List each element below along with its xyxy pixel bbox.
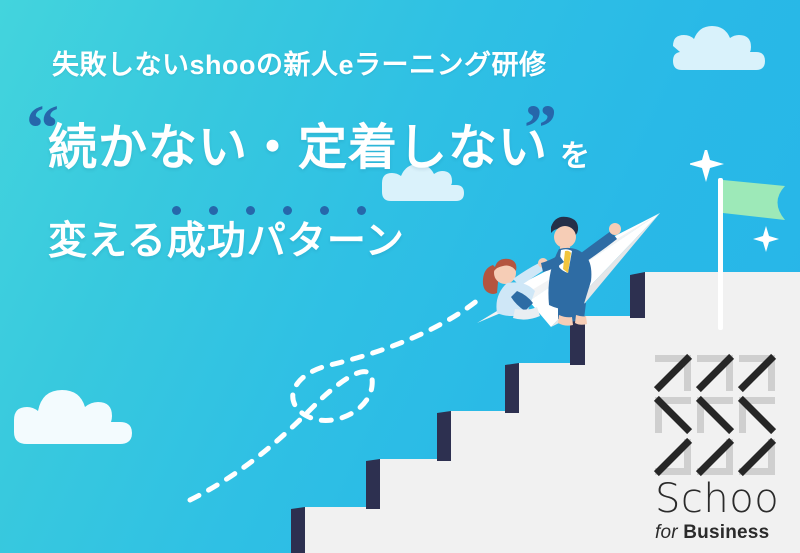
- headline-line-1-main: 続かない・定着しない: [48, 121, 548, 175]
- emphasis-dot: [172, 206, 181, 215]
- emphasis-dot: [320, 206, 329, 215]
- man-hand-point: [609, 223, 621, 235]
- logo-mark-cell: [655, 397, 691, 433]
- paper-plane-with-people: [455, 205, 675, 350]
- emphasis-dot: [357, 206, 366, 215]
- logo-mark-cell: [739, 439, 775, 475]
- flag-pole: [718, 178, 723, 330]
- logo-tagline-for: for: [655, 522, 678, 543]
- logo-mark-cell: [739, 397, 775, 433]
- emphasis-dot: [209, 206, 218, 215]
- flag-banner: [723, 180, 785, 220]
- sparkle-large: [690, 150, 724, 182]
- logo-mark-cell: [739, 355, 775, 391]
- sparkle-small: [753, 226, 779, 252]
- headline-line-1-suffix: を: [560, 140, 591, 173]
- man-head: [554, 226, 576, 248]
- man-shoe-right: [575, 315, 587, 325]
- headline-line-1: 続かない・定着しないを: [48, 124, 591, 173]
- logo-mark-cell: [697, 355, 733, 391]
- kicker-text: 失敗しないshooの新人eラーニング研修: [52, 52, 547, 79]
- schoo-grid-mark-icon: [655, 355, 775, 470]
- logo-tagline-business: Business: [683, 522, 769, 543]
- logo-mark-cell: [697, 439, 733, 475]
- emphasis-dot: [246, 206, 255, 215]
- schoo-marketing-banner: 失敗しないshooの新人eラーニング研修 “ ” 続かない・定着しないを 変える…: [0, 0, 800, 553]
- logo-mark-cell: [697, 397, 733, 433]
- schoo-for-business-logo[interactable]: Schoo for Business: [655, 355, 780, 540]
- trail-path: [190, 300, 478, 500]
- emphasis-dot: [283, 206, 292, 215]
- emphasis-dots: [172, 206, 372, 216]
- logo-tagline: for Business: [655, 522, 780, 544]
- logo-wordmark: Schoo: [655, 478, 780, 520]
- logo-mark-cell: [655, 355, 691, 391]
- headline-line-2: 変える成功パターン: [48, 222, 405, 261]
- goal-flag-group: [690, 150, 800, 340]
- logo-mark-cell: [655, 439, 691, 475]
